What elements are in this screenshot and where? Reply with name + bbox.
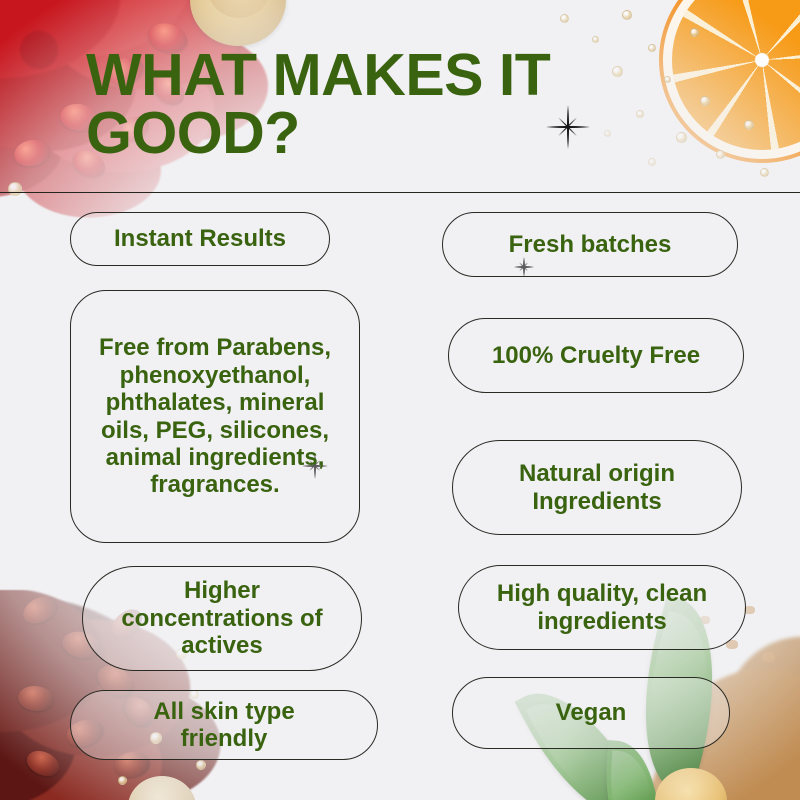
cream-jar-icon bbox=[128, 776, 196, 800]
feature-card-fresh-batches[interactable]: Fresh batches bbox=[442, 212, 738, 277]
sugar-grain-icon bbox=[686, 664, 695, 671]
header-divider bbox=[0, 192, 800, 193]
page-title: WHAT MAKES IT GOOD? bbox=[86, 46, 686, 163]
feature-card-instant-results[interactable]: Instant Results bbox=[70, 212, 330, 266]
feature-card-higher-concentrations[interactable]: Higher concentrations of actives bbox=[82, 566, 362, 671]
feature-card-free-from[interactable]: Free from Parabens, phenoxyethanol, phth… bbox=[70, 290, 360, 543]
feature-card-cruelty-free[interactable]: 100% Cruelty Free bbox=[448, 318, 744, 393]
feature-card-natural-origin[interactable]: Natural origin Ingredients bbox=[452, 440, 742, 535]
feature-card-vegan[interactable]: Vegan bbox=[452, 677, 730, 749]
feature-card-high-quality[interactable]: High quality, clean ingredients bbox=[458, 565, 746, 650]
leaf-icon bbox=[600, 740, 666, 800]
feature-card-all-skin-type[interactable]: All skin type friendly bbox=[70, 690, 378, 760]
honey-jar-icon bbox=[655, 768, 727, 800]
pomegranate-seed-icon bbox=[17, 684, 55, 713]
pomegranate-seed-icon bbox=[18, 591, 61, 629]
poster-canvas: WHAT MAKES IT GOOD? Instant Results Free… bbox=[0, 0, 800, 800]
poster-header: WHAT MAKES IT GOOD? bbox=[0, 0, 800, 192]
oil-droplet-icon bbox=[118, 776, 127, 785]
oil-droplet-icon bbox=[196, 760, 206, 770]
sugar-grain-icon bbox=[762, 652, 775, 662]
pomegranate-seed-icon bbox=[23, 746, 63, 781]
